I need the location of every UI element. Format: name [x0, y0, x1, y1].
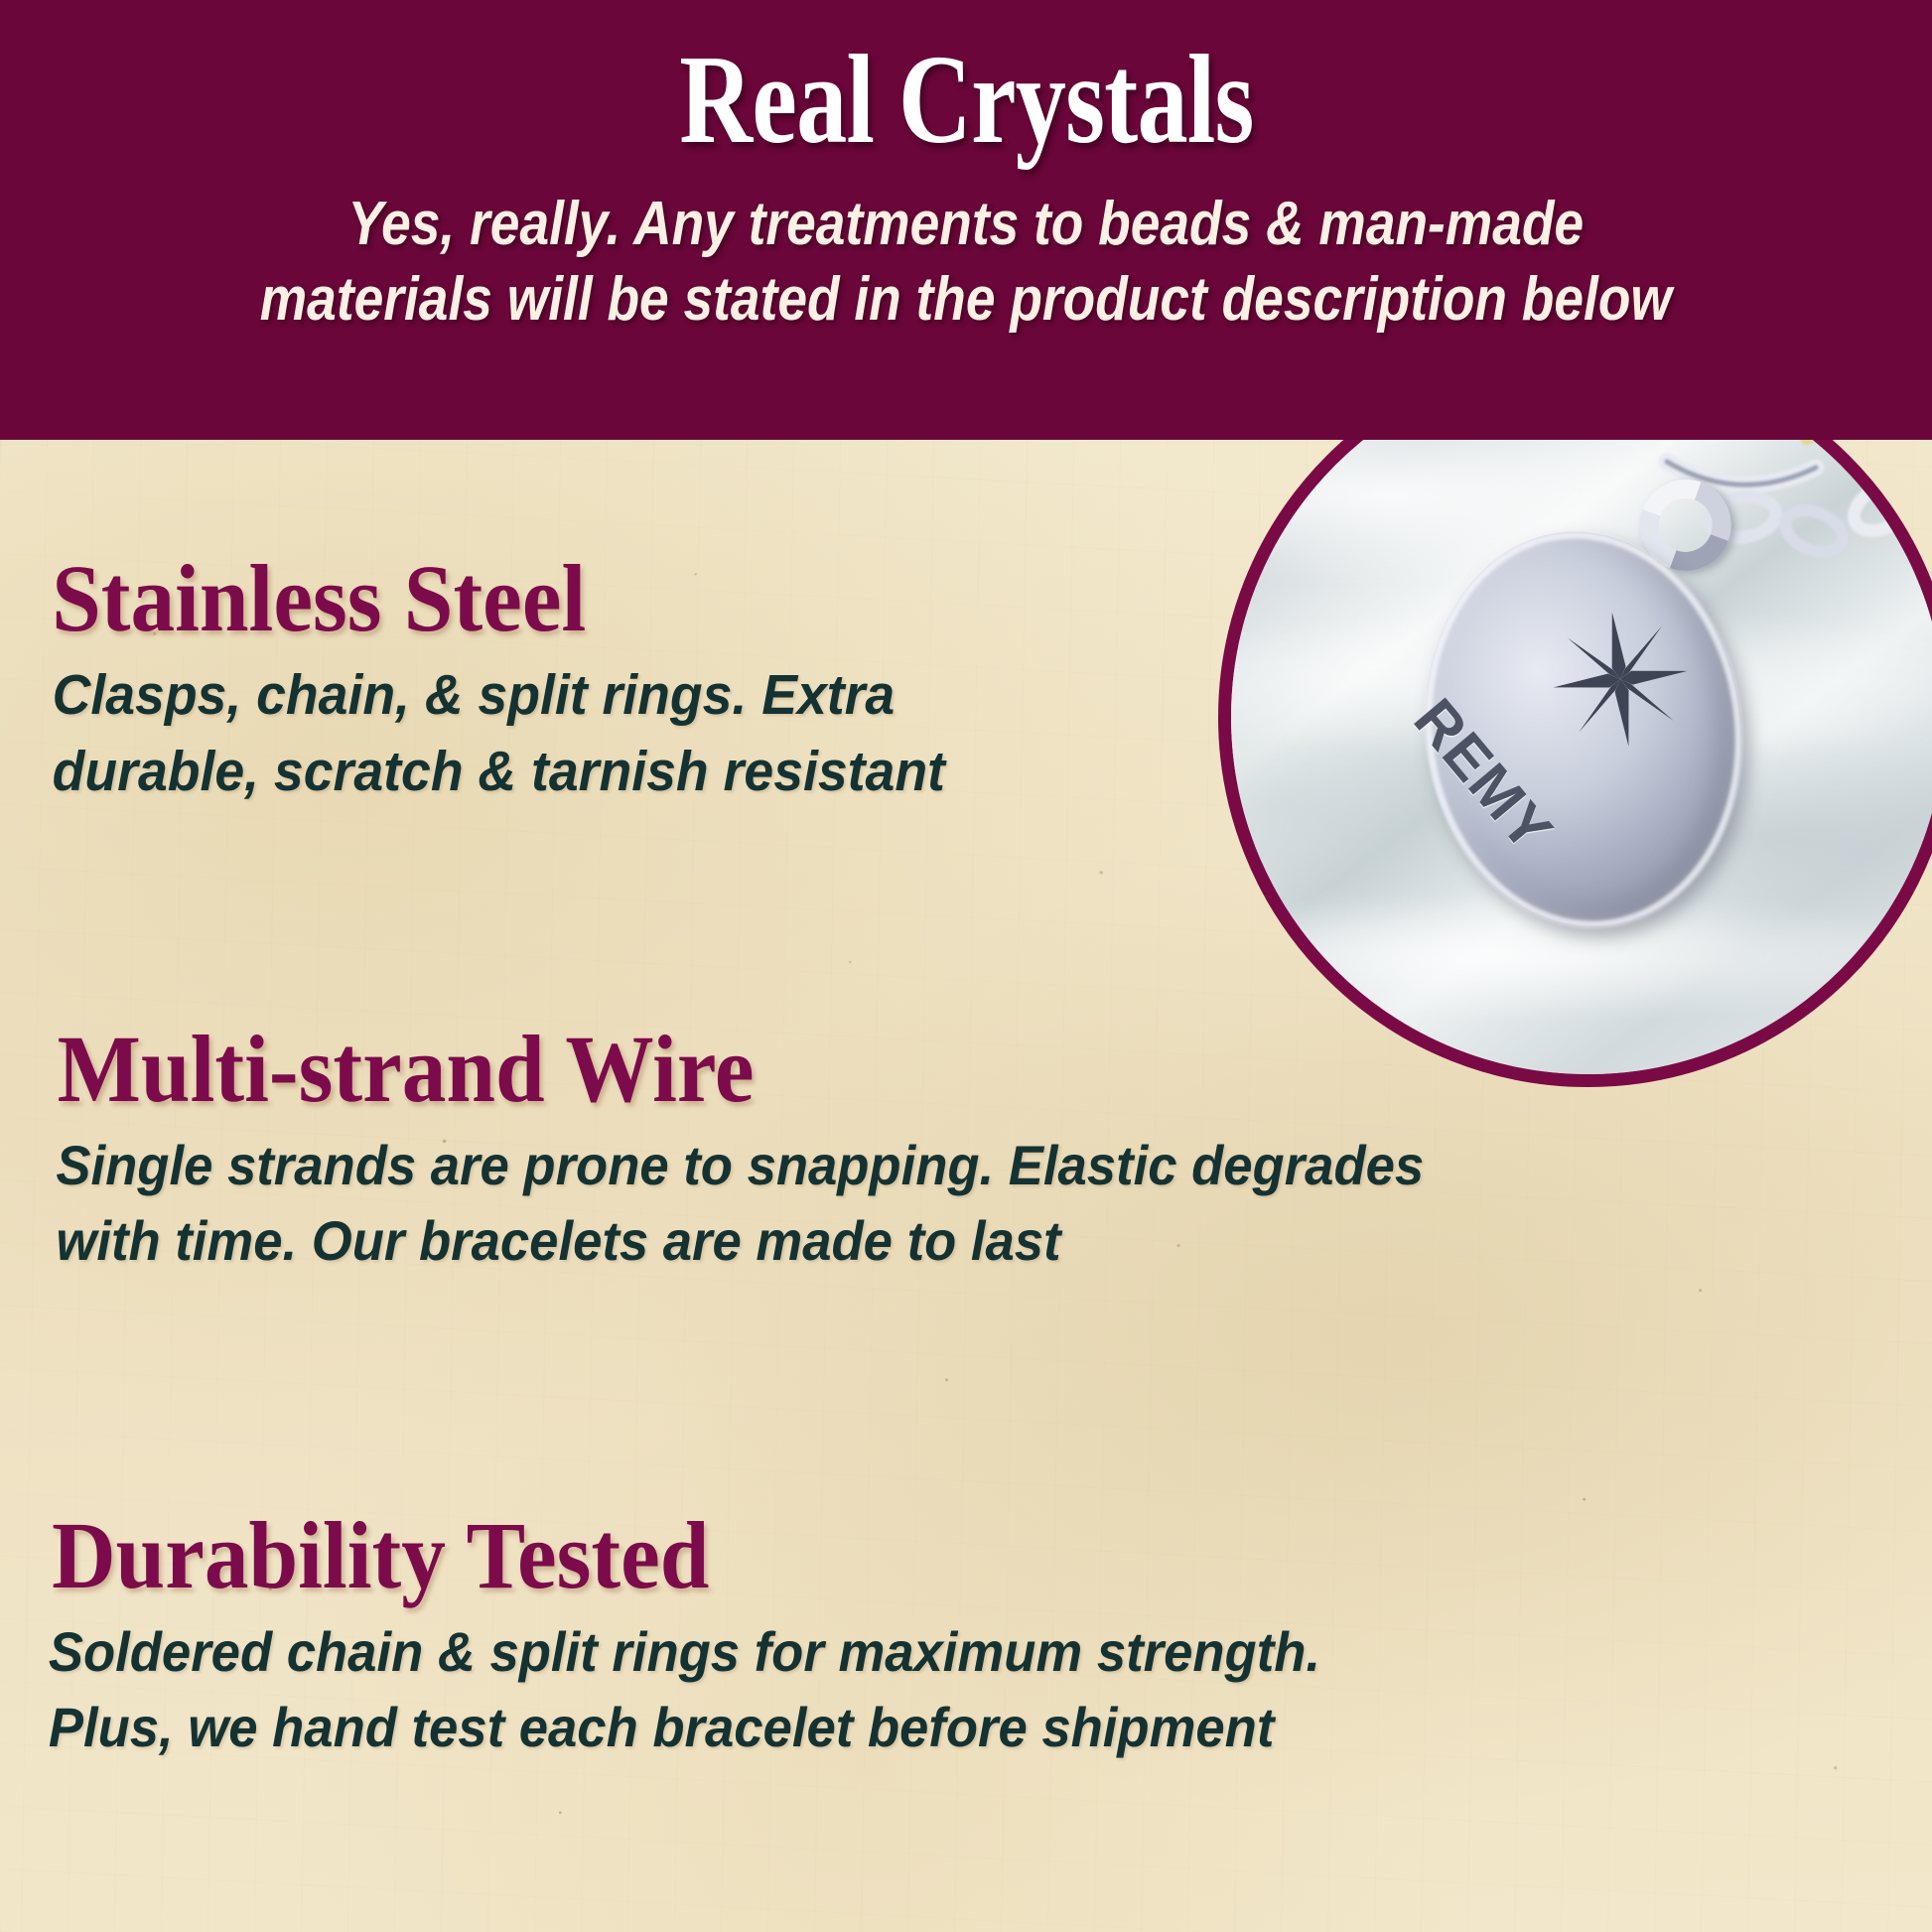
section-heading-multi-strand-wire: Multi-strand Wire — [0, 1020, 1797, 1120]
feature-section-multi-strand-wire: Multi-strand Wire Single strands are pro… — [0, 1020, 1932, 1279]
section-heading-stainless-steel: Stainless Steel — [0, 549, 1797, 649]
section-body-line: durable, scratch & tarnish resistant — [53, 734, 1817, 811]
section-body-line: Plus, we hand test each bracelet before … — [49, 1690, 1816, 1765]
header-subtitle-line-1: Yes, really. Any treatments to beads & m… — [260, 187, 1672, 262]
infographic-canvas: REMY Real Crystals Yes, really. Any trea… — [0, 0, 1932, 1932]
section-body-line: Single strands are prone to snapping. El… — [56, 1128, 1816, 1203]
section-body-durability-tested: Soldered chain & split rings for maximum… — [0, 1614, 1816, 1765]
feature-section-durability-tested: Durability Tested Soldered chain & split… — [0, 1506, 1932, 1765]
section-body-line: Clasps, chain, & split rings. Extra — [53, 657, 1817, 735]
header-subtitle: Yes, really. Any treatments to beads & m… — [226, 187, 1707, 337]
page-title: Real Crystals — [679, 36, 1253, 163]
header-banner: Real Crystals Yes, really. Any treatment… — [0, 0, 1932, 440]
feature-section-stainless-steel: Stainless Steel Clasps, chain, & split r… — [0, 549, 1932, 811]
section-body-line: Soldered chain & split rings for maximum… — [49, 1614, 1816, 1690]
section-heading-durability-tested: Durability Tested — [0, 1506, 1797, 1606]
section-body-multi-strand-wire: Single strands are prone to snapping. El… — [0, 1128, 1816, 1279]
header-subtitle-line-2: materials will be stated in the product … — [260, 262, 1672, 338]
section-body-stainless-steel: Clasps, chain, & split rings. Extra dura… — [0, 657, 1816, 811]
section-body-line: with time. Our bracelets are made to las… — [56, 1203, 1816, 1279]
feature-sections: Stainless Steel Clasps, chain, & split r… — [0, 440, 1932, 1932]
